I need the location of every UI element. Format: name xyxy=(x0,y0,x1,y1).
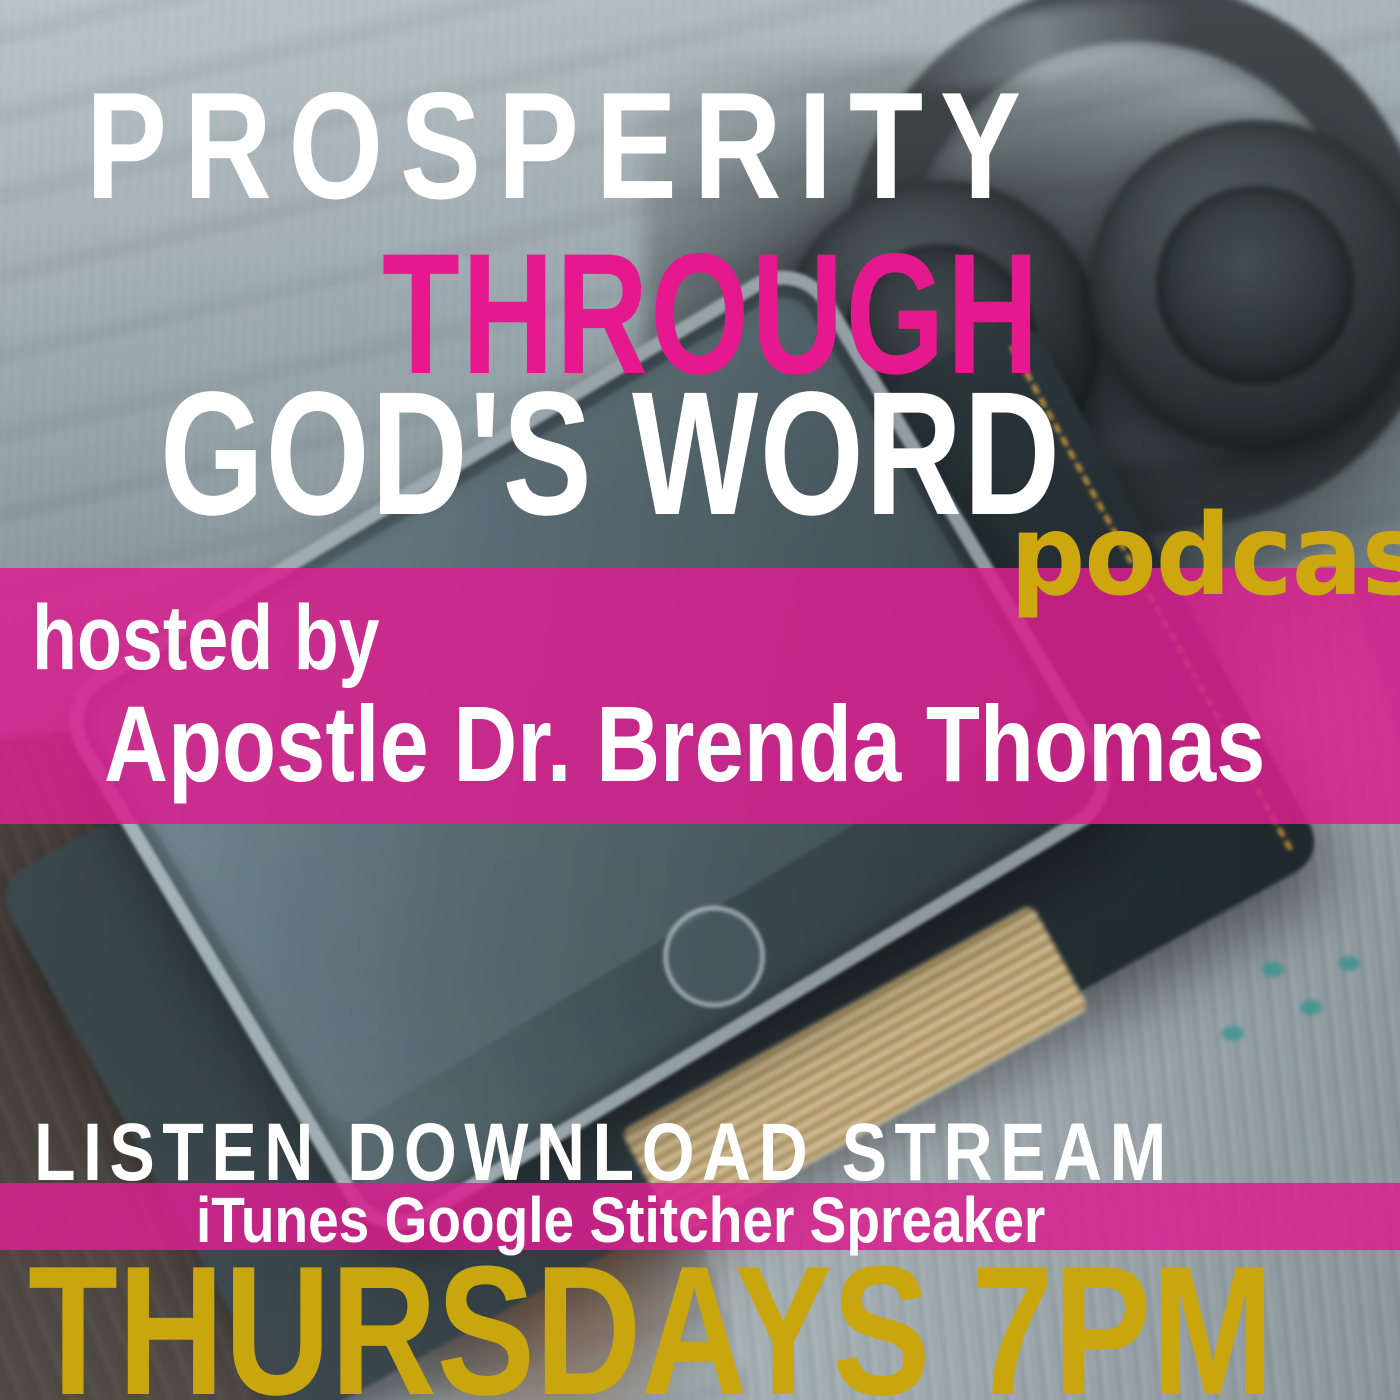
actions-label: LISTEN DOWNLOAD STREAM xyxy=(34,1112,1174,1194)
format-label: podcast xyxy=(1010,500,1400,612)
podcast-cover-art: PROSPERITY THROUGH GOD'S WORD podcast ho… xyxy=(0,0,1400,1400)
title-line-one: PROSPERITY xyxy=(86,70,1038,222)
host-name: Apostle Dr. Brenda Thomas xyxy=(104,690,1265,798)
title-line-three: GOD'S WORD xyxy=(160,366,1062,542)
hosted-by-label: hosted by xyxy=(32,592,380,684)
schedule-label: THURSDAYS 7PM xyxy=(28,1238,1274,1400)
